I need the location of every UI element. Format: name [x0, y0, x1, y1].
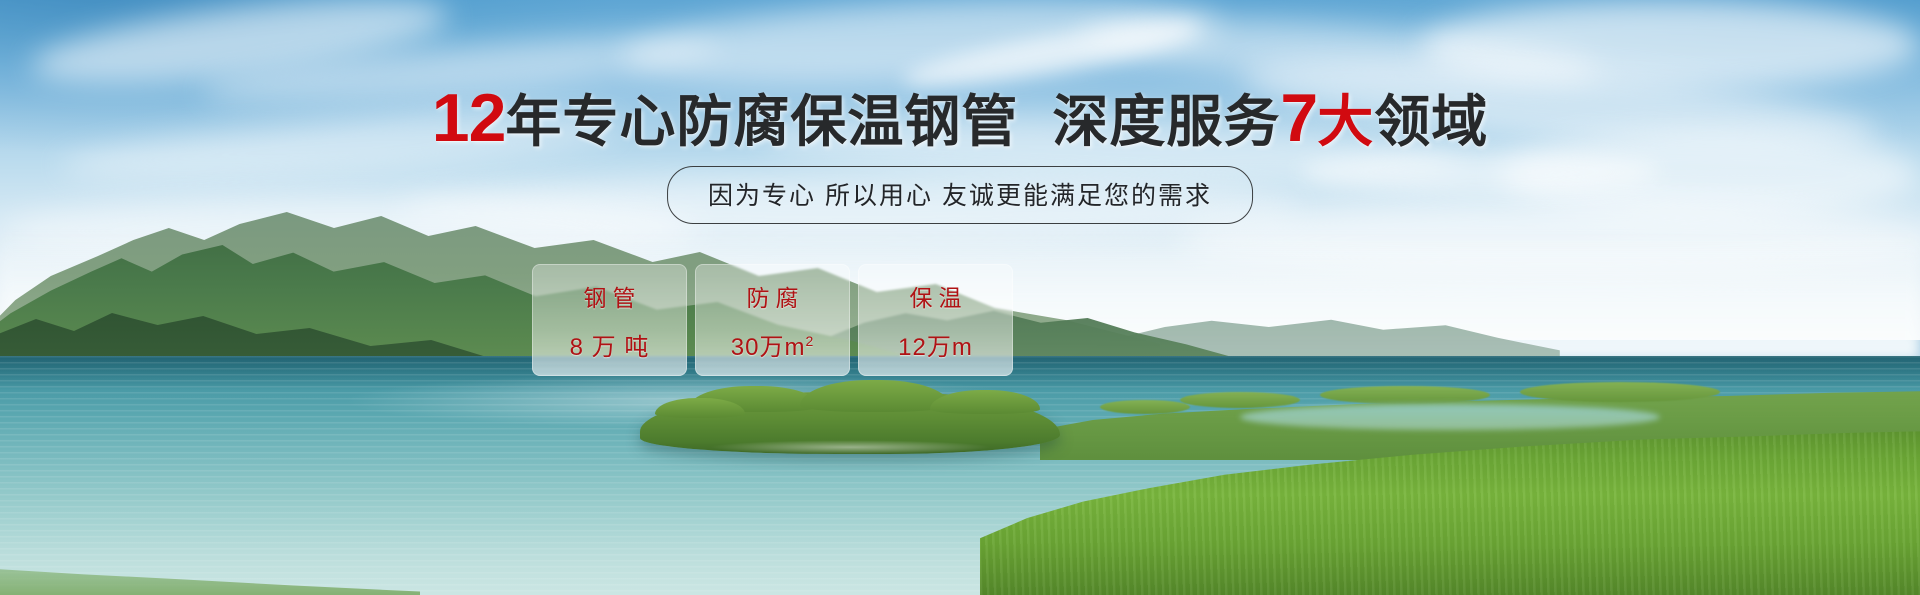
- stat-card-label: 钢管: [578, 279, 642, 313]
- banner-headline: 12年专心防腐保温钢管深度服务7大领域: [0, 84, 1920, 152]
- stat-card-anticorrosion: 防腐 30万m2: [695, 264, 850, 376]
- headline-segment-1: 年专心防腐保温钢管: [505, 90, 1018, 153]
- stat-card-value-text: 30万m: [731, 334, 806, 361]
- headline-accent-word: 大: [1317, 90, 1374, 153]
- stat-card-value: 30万m2: [731, 327, 814, 362]
- hero-banner: 12年专心防腐保温钢管深度服务7大领域 因为专心 所以用心 友诚更能满足您的需求…: [0, 0, 1920, 595]
- headline-segment-3: 领域: [1374, 90, 1488, 153]
- stat-card-steel-pipe: 钢管 8 万 吨: [532, 264, 687, 376]
- stat-card-value-superscript: 2: [805, 333, 814, 349]
- stat-cards: 钢管 8 万 吨 防腐 30万m2 保温 12万m: [532, 264, 1013, 376]
- stat-card-value: 8 万 吨: [570, 327, 650, 362]
- stat-card-label: 保温: [904, 279, 968, 313]
- headline-years-number: 12: [432, 80, 506, 156]
- headline-segment-2: 深度服务: [1052, 90, 1280, 153]
- stat-card-value-text: 12万m: [898, 334, 973, 361]
- headline-fields-number: 7: [1280, 80, 1317, 156]
- stat-card-value-text: 8 万 吨: [570, 334, 650, 361]
- banner-subtitle-pill: 因为专心 所以用心 友诚更能满足您的需求: [667, 166, 1253, 224]
- stat-card-value: 12万m: [898, 327, 973, 362]
- stat-card-insulation: 保温 12万m: [858, 264, 1013, 376]
- banner-content: 12年专心防腐保温钢管深度服务7大领域 因为专心 所以用心 友诚更能满足您的需求…: [0, 0, 1920, 595]
- stat-card-label: 防腐: [741, 279, 805, 313]
